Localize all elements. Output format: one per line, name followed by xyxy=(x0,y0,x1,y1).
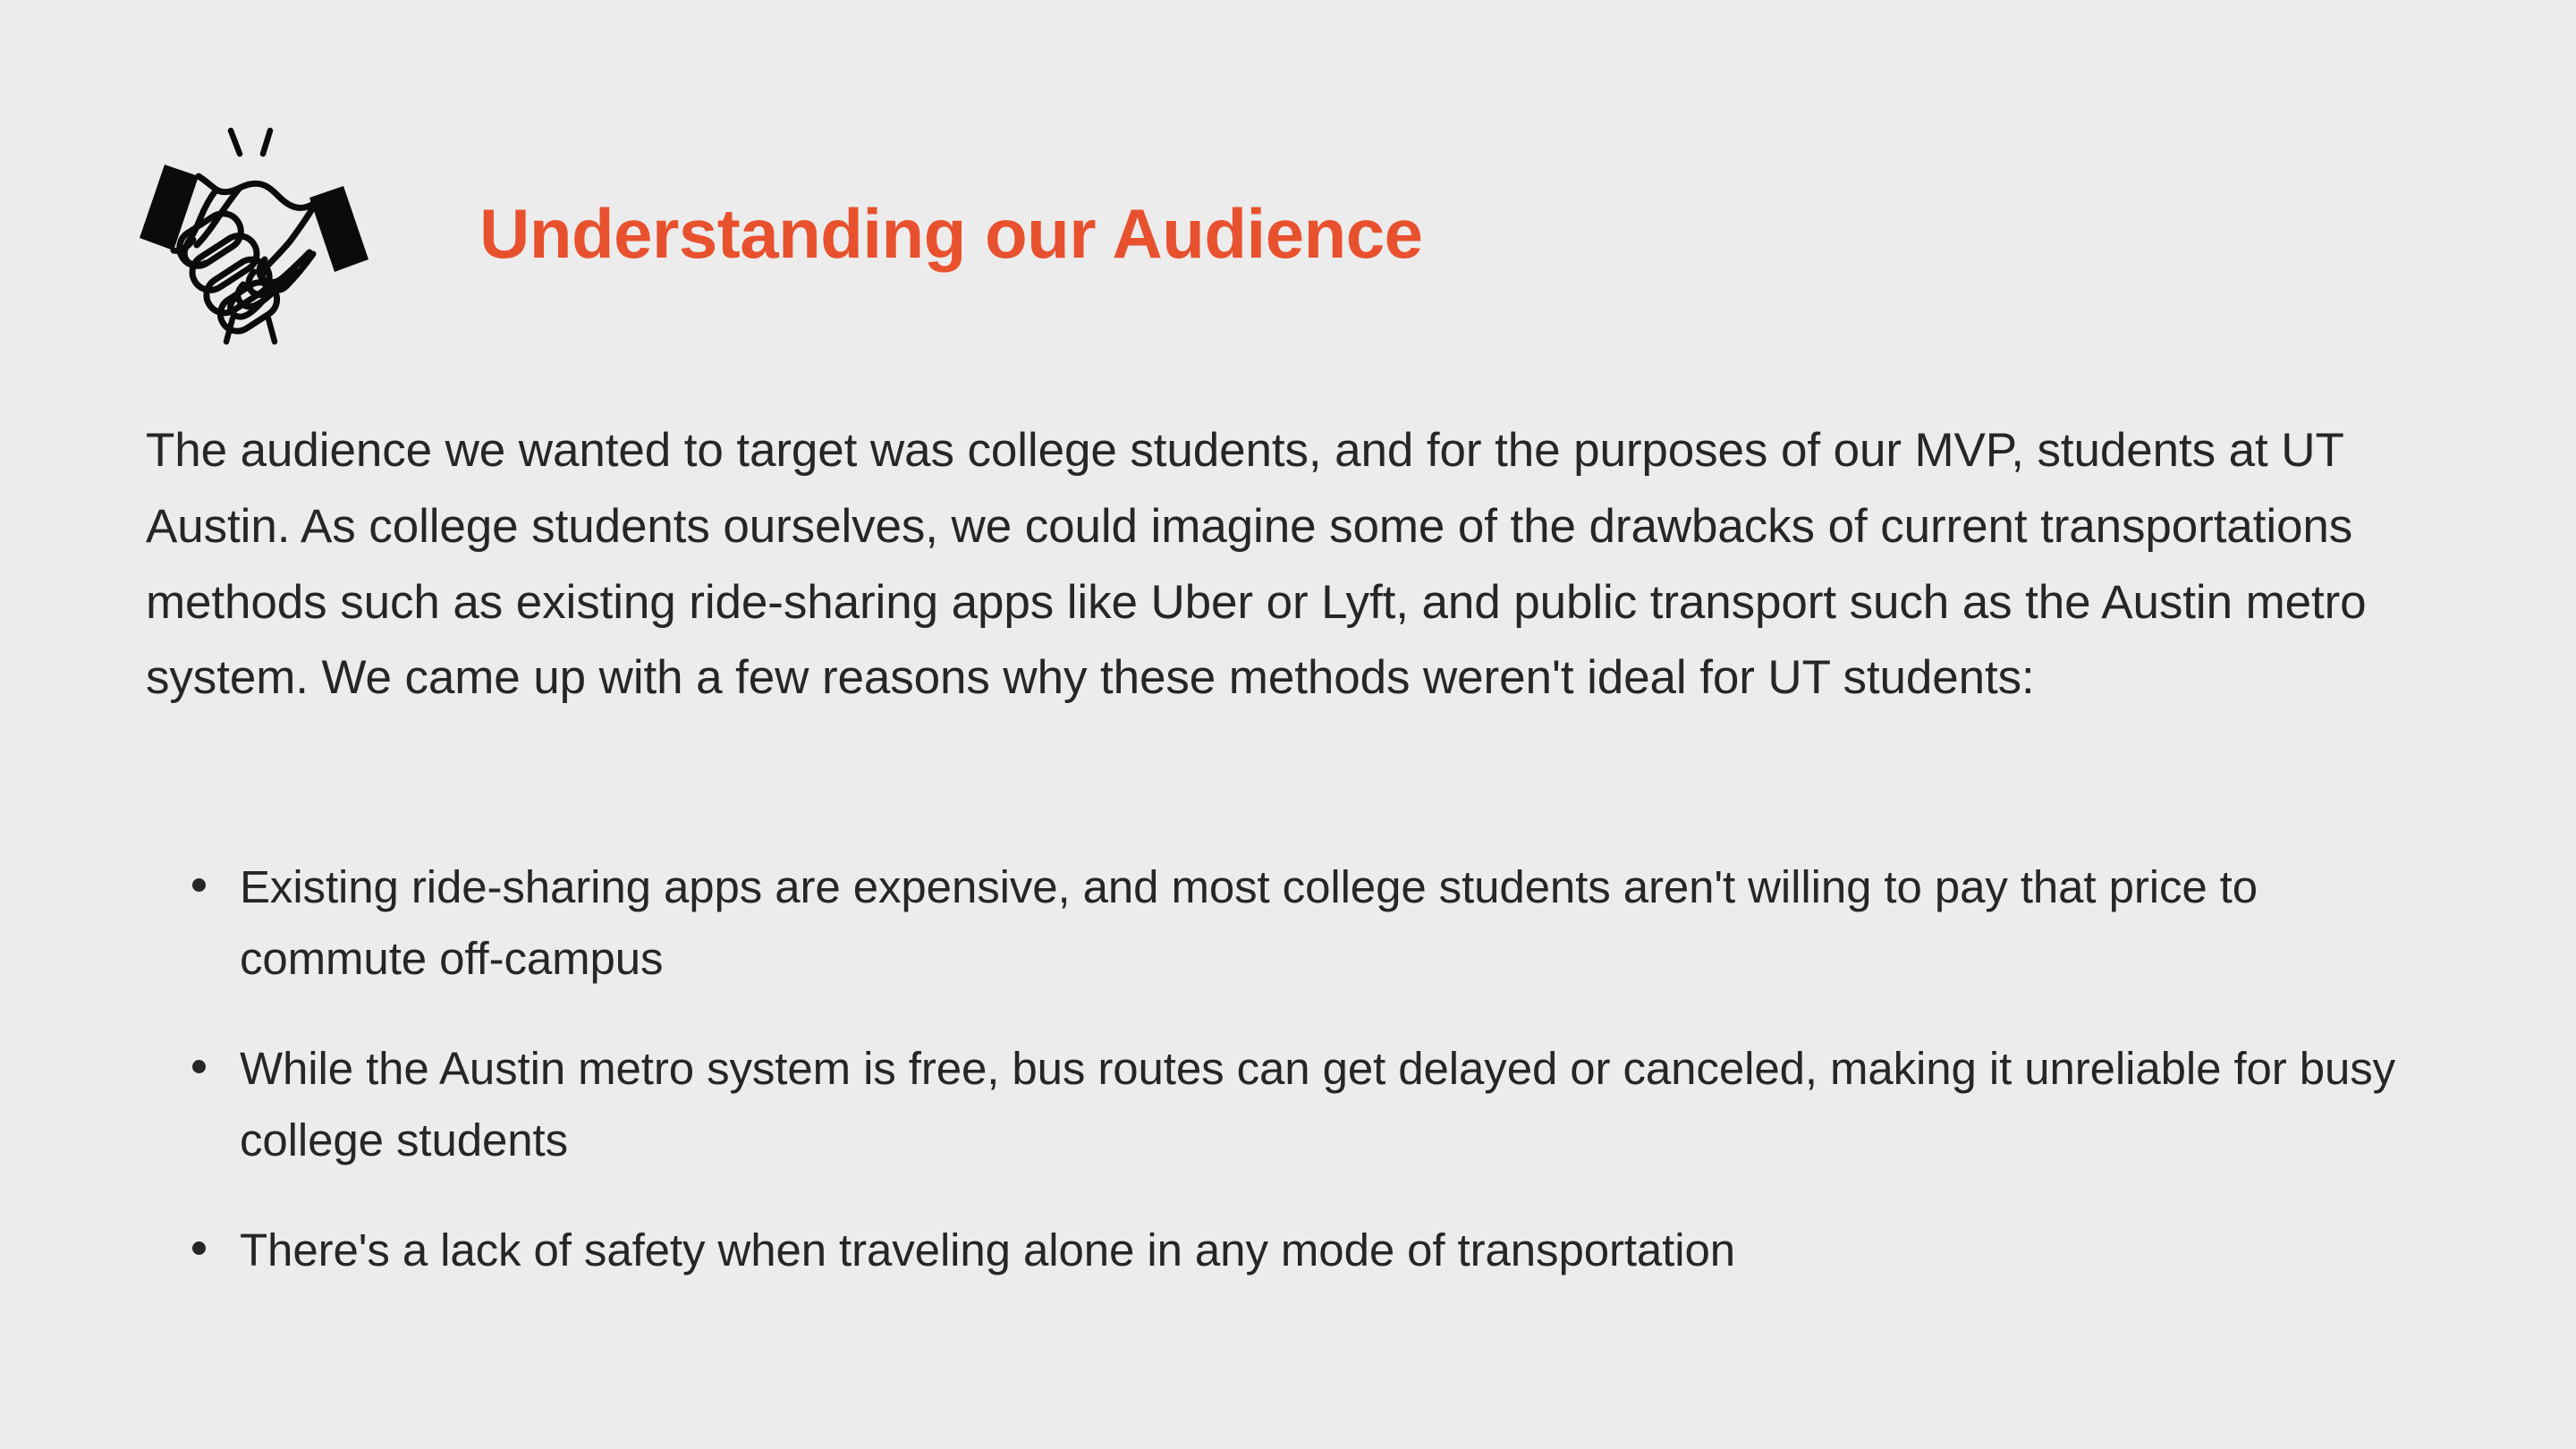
bullet-dot-icon xyxy=(192,1060,206,1073)
list-item: While the Austin metro system is free, b… xyxy=(146,1033,2436,1175)
list-item: Existing ride-sharing apps are expensive… xyxy=(146,852,2436,994)
bullet-dot-icon xyxy=(192,1241,206,1255)
list-item: There's a lack of safety when traveling … xyxy=(146,1215,2436,1286)
slide-root: Understanding our Audience The audience … xyxy=(0,0,2576,1449)
reasons-bullet-list: Existing ride-sharing apps are expensive… xyxy=(146,852,2436,1286)
bullet-dot-icon xyxy=(192,878,206,892)
slide-header: Understanding our Audience xyxy=(134,125,1423,347)
list-item-label: Existing ride-sharing apps are expensive… xyxy=(240,852,2436,994)
list-item-label: While the Austin metro system is free, b… xyxy=(240,1033,2436,1175)
intro-paragraph: The audience we wanted to target was col… xyxy=(146,413,2449,716)
page-title: Understanding our Audience xyxy=(479,199,1423,274)
handshake-icon xyxy=(134,125,374,347)
list-item-label: There's a lack of safety when traveling … xyxy=(240,1215,2436,1286)
intro-block: The audience we wanted to target was col… xyxy=(146,413,2449,716)
